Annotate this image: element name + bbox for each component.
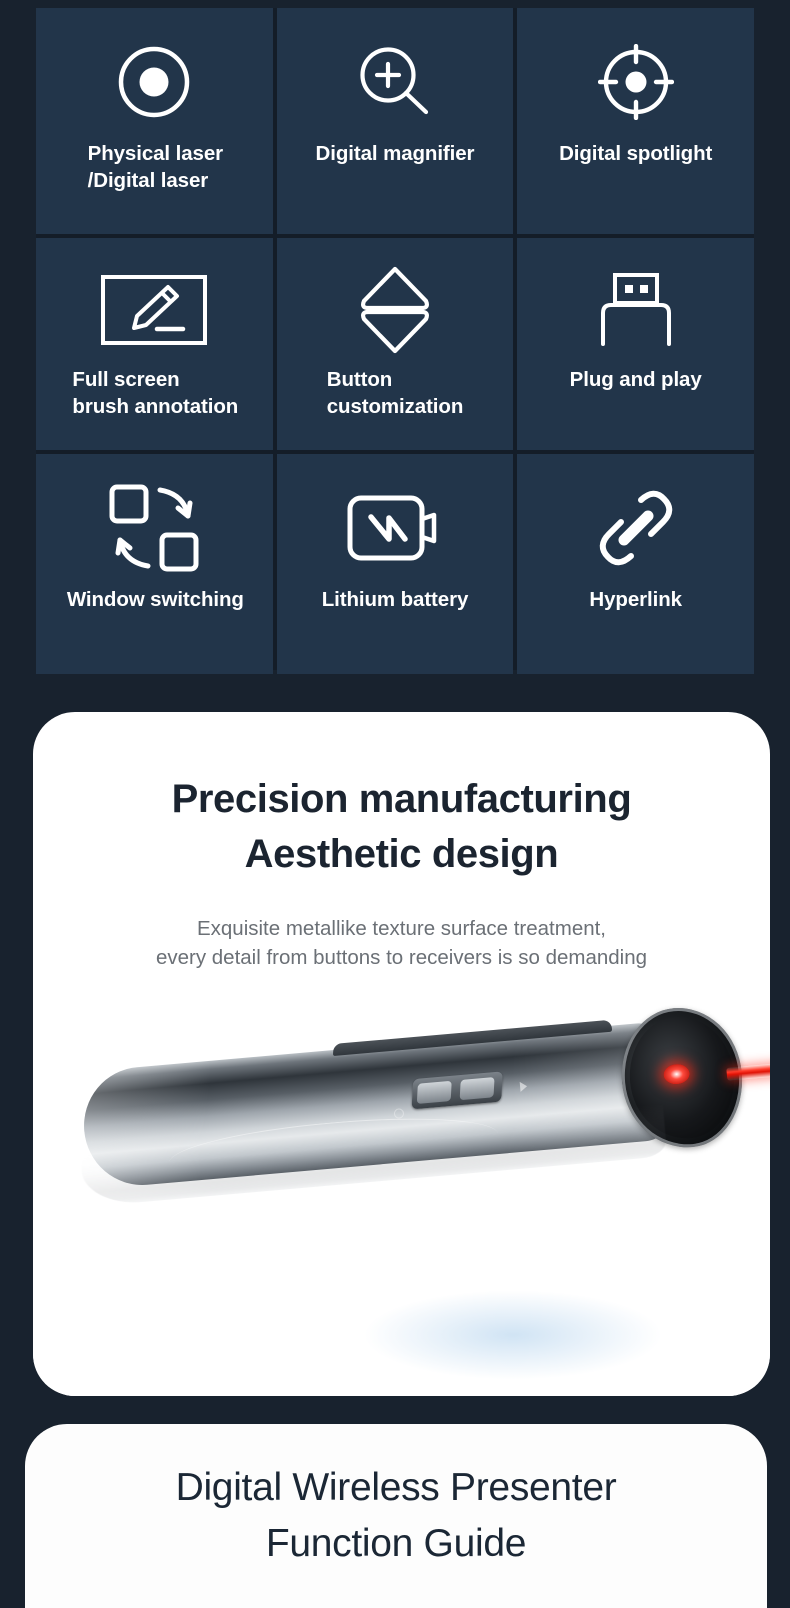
product-photo (33, 1042, 770, 1396)
feature-label: Window switching (65, 586, 244, 613)
feature-grid: Physical laser /Digital laser Digital ma… (36, 8, 754, 670)
design-card-title: Precision manufacturing Aesthetic design (33, 772, 770, 882)
crosshair-target-icon (598, 34, 674, 130)
guide-card-title: Digital Wireless Presenter Function Guid… (25, 1460, 767, 1572)
function-guide-card: Digital Wireless Presenter Function Guid… (25, 1424, 767, 1608)
laser-dot-icon (116, 34, 192, 130)
feature-cell-plug-and-play[interactable]: Plug and play (517, 238, 754, 450)
feature-label: Hyperlink (589, 586, 682, 613)
pen-button-right (460, 1077, 495, 1100)
window-switch-icon (108, 480, 200, 576)
feature-cell-button-customization[interactable]: Button customization (277, 238, 514, 450)
pen-on-screen-icon (100, 264, 208, 356)
feature-cell-digital-spotlight[interactable]: Digital spotlight (517, 8, 754, 234)
feature-label: Full screen brush annotation (70, 366, 238, 421)
feature-cell-digital-magnifier[interactable]: Digital magnifier (277, 8, 514, 234)
feature-label: Lithium battery (322, 586, 469, 613)
battery-bolt-icon (347, 480, 443, 576)
up-down-arrows-icon (356, 264, 434, 356)
feature-label: Plug and play (570, 366, 702, 393)
pen-play-glyph (520, 1081, 528, 1092)
feature-label: Button customization (327, 366, 464, 421)
feature-cell-physical-laser[interactable]: Physical laser /Digital laser (36, 8, 273, 234)
feature-cell-brush-annotation[interactable]: Full screen brush annotation (36, 238, 273, 450)
feature-cell-lithium-battery[interactable]: Lithium battery (277, 454, 514, 674)
design-card-subtitle: Exquisite metallike texture surface trea… (33, 914, 770, 972)
chain-link-icon (594, 480, 678, 576)
precision-design-card: Precision manufacturing Aesthetic design… (33, 712, 770, 1396)
usb-connector-icon (600, 264, 672, 356)
feature-label: Digital spotlight (559, 140, 712, 167)
product-glow (363, 1290, 663, 1380)
feature-label: Physical laser /Digital laser (86, 140, 223, 195)
magnifier-plus-icon (355, 34, 435, 130)
feature-cell-window-switching[interactable]: Window switching (36, 454, 273, 674)
feature-label: Digital magnifier (316, 140, 475, 167)
pen-button-left (417, 1081, 452, 1104)
feature-cell-hyperlink[interactable]: Hyperlink (517, 454, 754, 674)
